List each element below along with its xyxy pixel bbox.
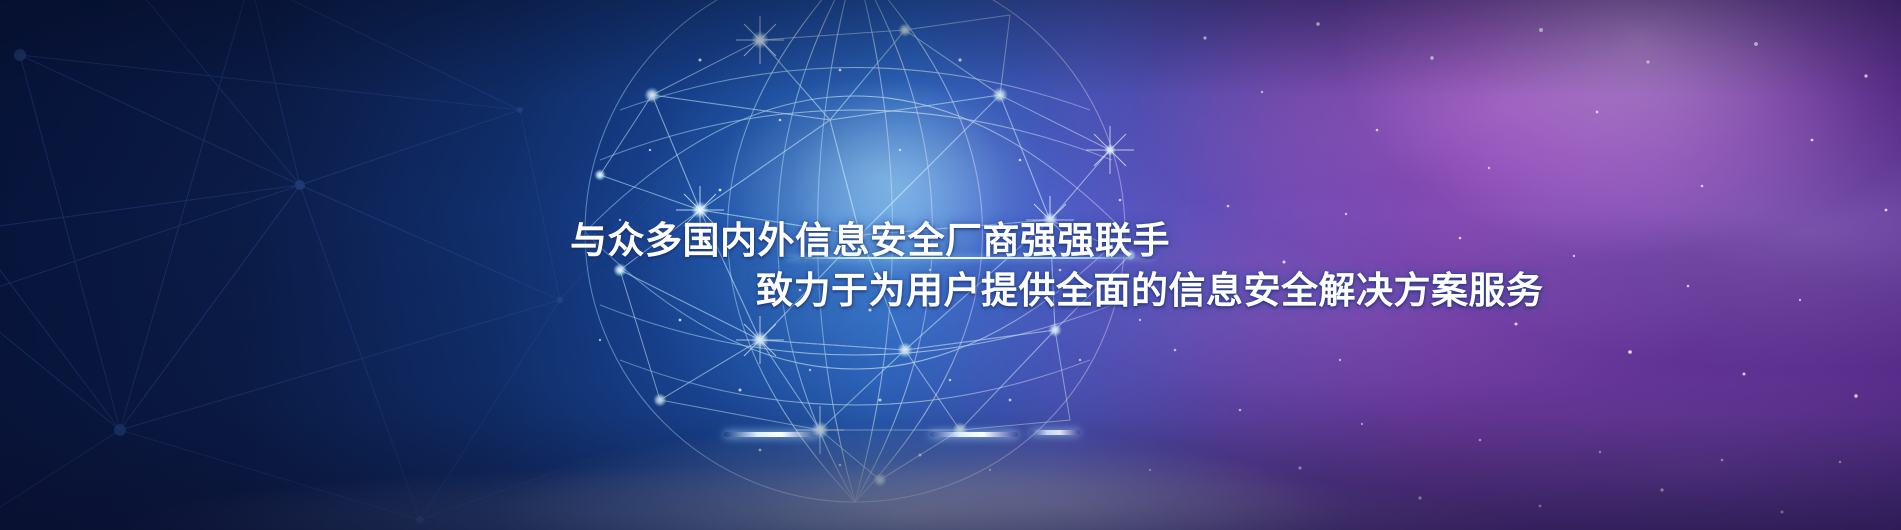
headline-line-1: 与众多国内外信息安全厂商强强联手 xyxy=(570,210,1170,264)
light-bar-decor-2 xyxy=(930,432,1018,437)
cyan-glow-rule-decor xyxy=(786,257,1154,259)
headline-line-2: 致力于为用户提供全面的信息安全解决方案服务 xyxy=(756,260,1544,314)
hero-banner: 与众多国内外信息安全厂商强强联手 致力于为用户提供全面的信息安全解决方案服务 xyxy=(0,0,1901,530)
light-bar-decor-1 xyxy=(724,432,820,437)
headline-block: 与众多国内外信息安全厂商强强联手 致力于为用户提供全面的信息安全解决方案服务 xyxy=(0,0,1901,530)
light-bar-decor-3 xyxy=(1030,430,1080,435)
